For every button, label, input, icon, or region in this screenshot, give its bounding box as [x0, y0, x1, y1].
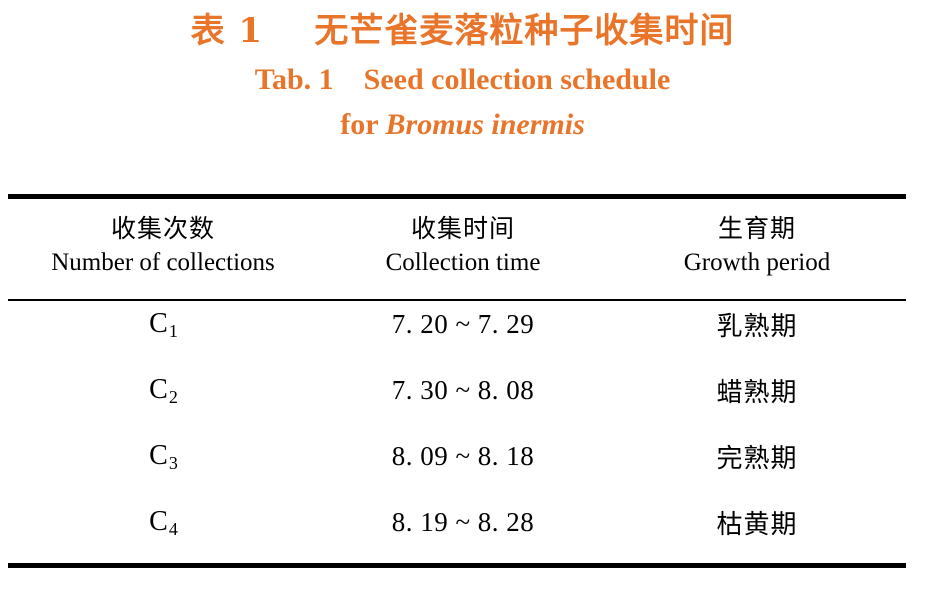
- column-header-growth: 生育期 Growth period: [608, 199, 906, 291]
- table-header-row: 收集次数 Number of collections 收集时间 Collecti…: [8, 199, 906, 291]
- cell-collection-code: C1: [8, 291, 318, 357]
- table-bottom-rule: [8, 563, 906, 568]
- collection-code-letter: C: [149, 440, 168, 471]
- collection-code-index: 2: [169, 387, 178, 407]
- cell-collection-time: 8. 19 ~ 8. 28: [318, 489, 608, 555]
- collection-code-letter: C: [149, 506, 168, 537]
- cell-growth-stage: 蜡熟期: [608, 357, 906, 423]
- table-row: C4 8. 19 ~ 8. 28 枯黄期: [8, 489, 906, 555]
- collection-code-index: 4: [169, 519, 178, 539]
- column-header-growth-cn: 生育期: [608, 212, 906, 246]
- column-header-time-en: Collection time: [318, 246, 608, 279]
- column-header-collections: 收集次数 Number of collections: [8, 199, 318, 291]
- column-header-time: 收集时间 Collection time: [318, 199, 608, 291]
- cell-growth-stage: 乳熟期: [608, 291, 906, 357]
- column-header-collections-cn: 收集次数: [8, 212, 318, 246]
- table-caption: 表 1 无芒雀麦落粒种子收集时间 Tab. 1 Seed collection …: [0, 8, 925, 146]
- cell-collection-time: 8. 09 ~ 8. 18: [318, 423, 608, 489]
- table-row: C2 7. 30 ~ 8. 08 蜡熟期: [8, 357, 906, 423]
- column-header-growth-en: Growth period: [608, 246, 906, 279]
- collection-code-letter: C: [149, 308, 168, 339]
- collection-code-index: 1: [169, 321, 178, 341]
- cell-collection-code: C4: [8, 489, 318, 555]
- cell-collection-time: 7. 30 ~ 8. 08: [318, 357, 608, 423]
- cell-growth-stage: 枯黄期: [608, 489, 906, 555]
- table-row: C1 7. 20 ~ 7. 29 乳熟期: [8, 291, 906, 357]
- column-header-collections-en: Number of collections: [8, 246, 318, 279]
- caption-chinese: 表 1 无芒雀麦落粒种子收集时间: [0, 8, 925, 54]
- caption-for-word: for: [340, 108, 385, 141]
- species-name: Bromus inermis: [386, 108, 585, 141]
- caption-english-line1: Tab. 1 Seed collection schedule: [0, 58, 925, 102]
- collection-code-index: 3: [169, 453, 178, 473]
- collection-code-letter: C: [149, 374, 168, 405]
- table-row: C3 8. 09 ~ 8. 18 完熟期: [8, 423, 906, 489]
- caption-english-line2: for Bromus inermis: [0, 104, 925, 146]
- cell-collection-code: C3: [8, 423, 318, 489]
- cell-collection-code: C2: [8, 357, 318, 423]
- schedule-table: 收集次数 Number of collections 收集时间 Collecti…: [8, 199, 906, 555]
- column-header-time-cn: 收集时间: [318, 212, 608, 246]
- cell-collection-time: 7. 20 ~ 7. 29: [318, 291, 608, 357]
- cell-growth-stage: 完熟期: [608, 423, 906, 489]
- table-figure: 表 1 无芒雀麦落粒种子收集时间 Tab. 1 Seed collection …: [0, 0, 925, 591]
